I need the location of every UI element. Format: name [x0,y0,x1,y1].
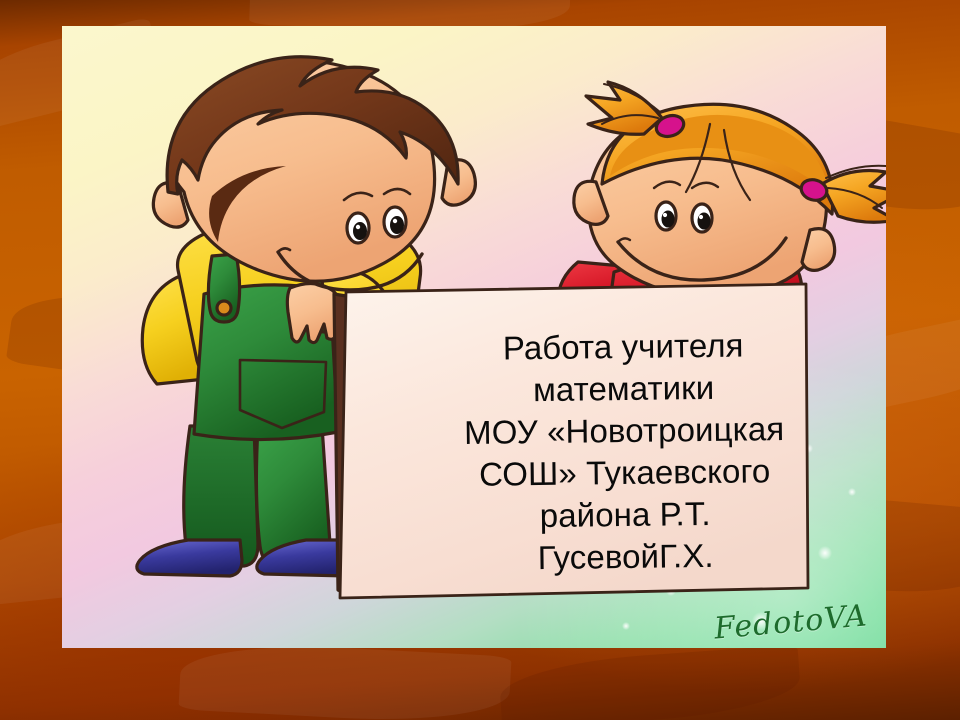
title-line-3: МОУ «Новотроицкая [464,408,785,454]
frame-leaf-icon [498,645,802,720]
frame-leaf-icon [178,639,511,720]
slide-root: Работа учителя математики МОУ «Новотроиц… [0,0,960,720]
title-line-4: СОШ» Тукаевского [479,450,771,496]
title-line-2: математики [533,367,715,411]
title-line-1: Работа учителя [503,325,744,370]
slide-canvas: Работа учителя математики МОУ «Новотроиц… [62,26,886,648]
title-line-5: района Р.Т. [539,493,710,537]
title-line-6: ГусевойГ.Х. [538,535,714,579]
sign-text-block: Работа учителя математики МОУ «Новотроиц… [405,313,843,598]
